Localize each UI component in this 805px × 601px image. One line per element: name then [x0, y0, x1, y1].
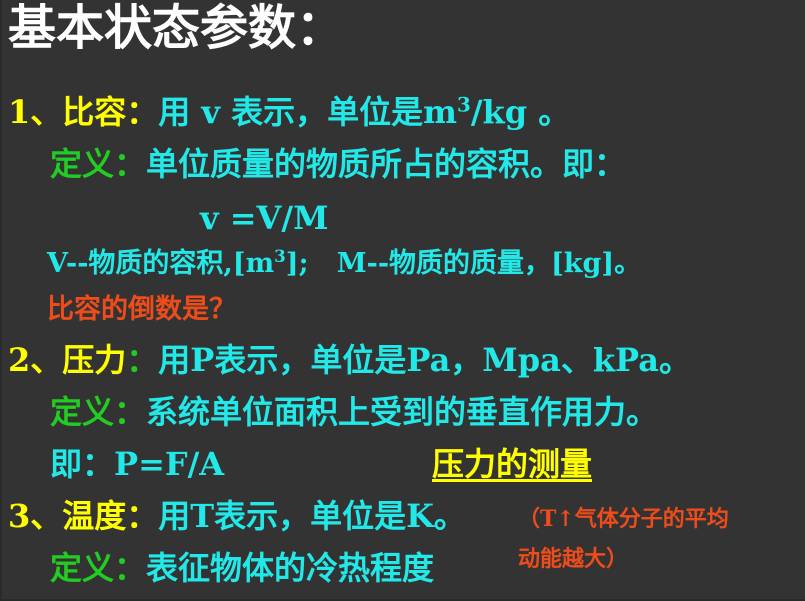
bullet-1-text-b: /kg 。	[471, 93, 570, 131]
bullet-2-label: 2、压力	[8, 341, 126, 379]
definition-2-text: 系统单位面积上受到的垂直作用力。	[146, 393, 658, 431]
definition-3: 定义：表征物体的冷热程度	[50, 552, 434, 584]
slide-canvas: 基本状态参数： 1、比容：用 v 表示，单位是m3/kg 。 定义：单位质量的物…	[0, 0, 805, 601]
bullet-item-3: 3、温度：用T表示，单位是K。	[8, 500, 466, 532]
bullet-3-label: 3、温度：	[8, 497, 158, 535]
link-pressure-measurement[interactable]: 压力的测量	[432, 448, 592, 480]
formula-specific-volume: v =V/M	[200, 202, 328, 234]
definition-1: 定义：单位质量的物质所占的容积。即：	[50, 148, 626, 180]
side-note-line-1: （T↑气体分子的平均	[518, 508, 729, 530]
bullet-1-superscript: 3	[457, 92, 471, 116]
bullet-1-text-a: 用 v 表示，单位是m	[158, 93, 457, 131]
symbol-legend-b: ]; M--物质的质量，[kg]。	[286, 248, 641, 279]
formula-pressure: 即：P=F/A	[50, 448, 224, 480]
slide-title: 基本状态参数：	[8, 4, 344, 52]
definition-1-label: 定义：	[50, 145, 146, 183]
bullet-3-text: 用T表示，单位是K。	[158, 497, 466, 535]
question-reciprocal: 比容的倒数是？	[47, 296, 236, 323]
bullet-2-text: 用P表示，单位是Pa，Mpa、kPa。	[158, 341, 691, 379]
bullet-2-colon: ：	[126, 341, 158, 379]
definition-1-text: 单位质量的物质所占的容积。即：	[146, 145, 626, 183]
side-note-line-2: 动能越大）	[518, 548, 628, 570]
symbol-legend-a: V--物质的容积,[m	[47, 248, 274, 279]
definition-3-text: 表征物体的冷热程度	[146, 549, 434, 587]
bullet-item-1: 1、比容：用 v 表示，单位是m3/kg 。	[8, 96, 570, 128]
definition-3-label: 定义：	[50, 549, 146, 587]
bullet-1-label: 1、比容：	[8, 93, 158, 131]
definition-2: 定义：系统单位面积上受到的垂直作用力。	[50, 396, 658, 428]
definition-2-label: 定义：	[50, 393, 146, 431]
bullet-item-2: 2、压力：用P表示，单位是Pa，Mpa、kPa。	[8, 344, 691, 376]
symbol-legend-superscript: 3	[274, 246, 286, 266]
symbol-legend: V--物质的容积,[m3]; M--物质的质量，[kg]。	[47, 250, 641, 277]
